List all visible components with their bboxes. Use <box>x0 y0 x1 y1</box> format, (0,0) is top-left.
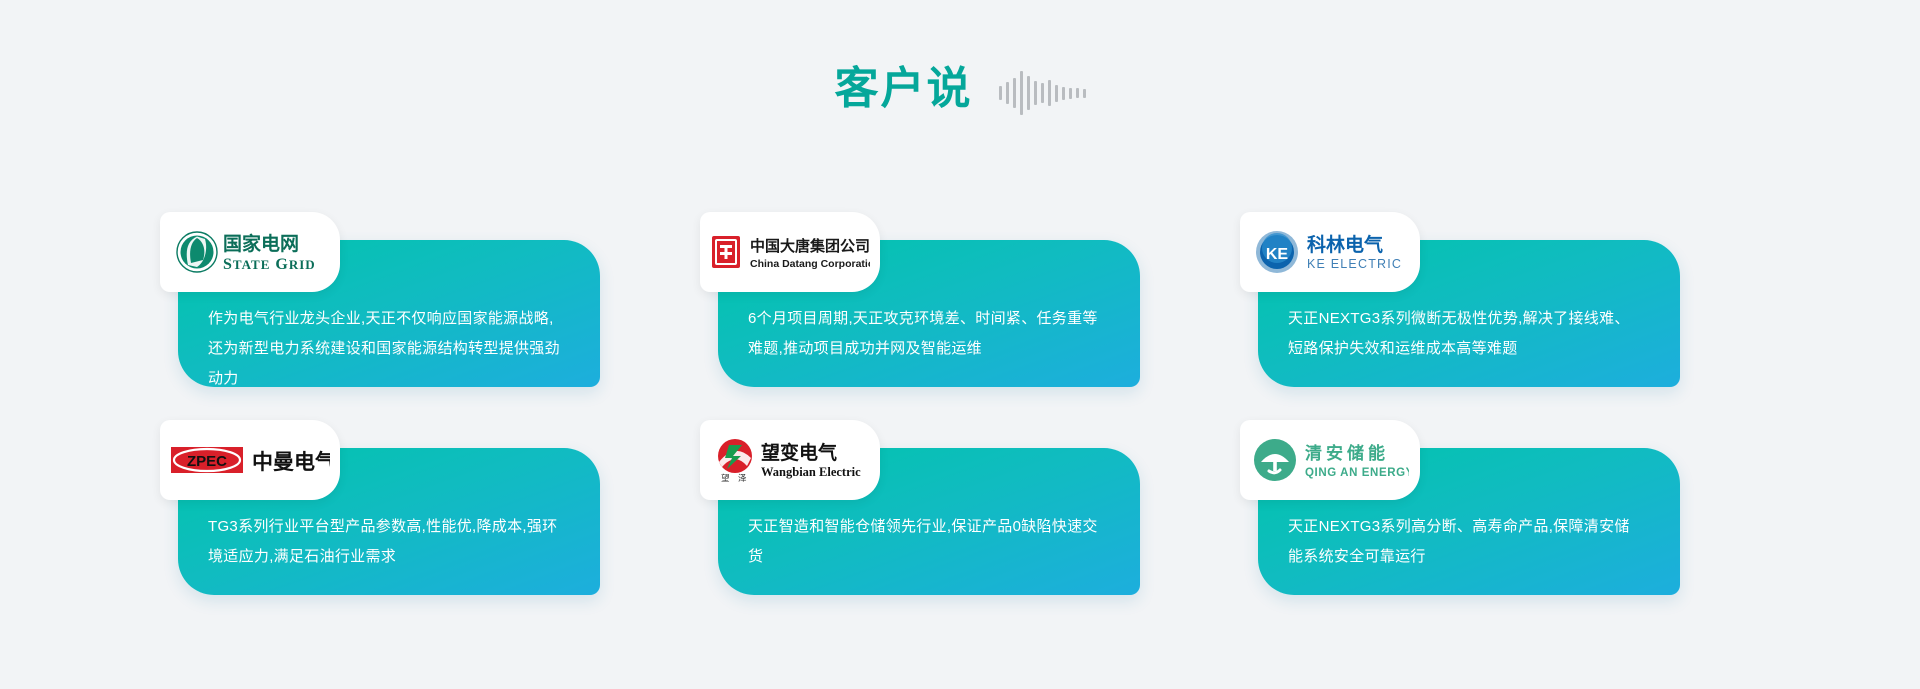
page-title: 客户说 <box>835 67 973 111</box>
svg-text:STATE GRID: STATE GRID <box>223 256 316 273</box>
svg-text:China Datang Corporation: China Datang Corporation <box>750 258 870 270</box>
company-logo-badge: 中国大唐集团公司 China Datang Corporation <box>700 212 880 292</box>
svg-text:科林电气: 科林电气 <box>1307 233 1383 256</box>
waveform-bar <box>1076 88 1079 98</box>
audio-waveform-icon <box>999 70 1086 116</box>
testimonial-card[interactable]: ZPEC 中曼电气 TG3系列行业平台型产品参数高,性能优,降成本,强环境适应力… <box>160 420 600 595</box>
company-logo-badge: KE 科林电气 KE ELECTRIC <box>1240 212 1420 292</box>
testimonial-card[interactable]: 国家电网 STATE GRID 作为电气行业龙头企业,天正不仅响应国家能源战略,… <box>160 212 600 387</box>
svg-text:QING AN ENERGY: QING AN ENERGY <box>1305 467 1409 479</box>
waveform-bar <box>1069 88 1072 99</box>
waveform-bar <box>1041 83 1044 103</box>
waveform-bar <box>1013 78 1016 108</box>
testimonial-grid: 国家电网 STATE GRID 作为电气行业龙头企业,天正不仅响应国家能源战略,… <box>160 212 1760 595</box>
state-grid-logo: 国家电网 STATE GRID <box>175 229 325 275</box>
waveform-bar <box>1083 89 1086 98</box>
testimonial-quote: 作为电气行业龙头企业,天正不仅响应国家能源战略,还为新型电力系统建设和国家能源结… <box>208 304 564 394</box>
company-logo-badge: 国家电网 STATE GRID <box>160 212 340 292</box>
testimonial-quote: TG3系列行业平台型产品参数高,性能优,降成本,强环境适应力,满足石油行业需求 <box>208 512 564 572</box>
ke-electric-logo: KE 科林电气 KE ELECTRIC <box>1253 229 1408 275</box>
waveform-bar <box>1034 81 1037 105</box>
testimonial-card[interactable]: 中国大唐集团公司 China Datang Corporation 6个月项目周… <box>700 212 1140 387</box>
section-heading: 客户说 <box>0 62 1920 116</box>
testimonial-quote: 6个月项目周期,天正攻克环境差、时间紧、任务重等难题,推动项目成功并网及智能运维 <box>748 304 1104 364</box>
svg-text:清安储能: 清安储能 <box>1305 443 1389 463</box>
waveform-bar <box>1048 80 1051 106</box>
testimonial-card[interactable]: 望 泽 望变电气 Wangbian Electric 天正智造和智能仓储领先行业… <box>700 420 1140 595</box>
zpec-zhongman-logo: ZPEC 中曼电气 <box>170 442 330 478</box>
waveform-bar <box>1006 82 1009 104</box>
svg-text:KE ELECTRIC: KE ELECTRIC <box>1307 257 1402 271</box>
waveform-bar <box>1062 87 1065 100</box>
company-logo-badge: 清安储能 QING AN ENERGY <box>1240 420 1420 500</box>
testimonial-card[interactable]: 清安储能 QING AN ENERGY 天正NEXTG3系列高分断、高寿命产品,… <box>1240 420 1680 595</box>
svg-text:中曼电气: 中曼电气 <box>252 450 330 474</box>
svg-text:ZPEC: ZPEC <box>187 453 227 470</box>
svg-text:中国大唐集团公司: 中国大唐集团公司 <box>750 237 870 255</box>
waveform-bar <box>1020 71 1023 115</box>
testimonial-quote: 天正NEXTG3系列高分断、高寿命产品,保障清安储能系统安全可靠运行 <box>1288 512 1644 572</box>
testimonial-quote: 天正NEXTG3系列微断无极性优势,解决了接线难、短路保护失效和运维成本高等难题 <box>1288 304 1644 364</box>
svg-text:Wangbian Electric: Wangbian Electric <box>761 465 861 479</box>
waveform-bar <box>999 86 1002 100</box>
waveform-bar <box>1055 85 1058 102</box>
company-logo-badge: 望 泽 望变电气 Wangbian Electric <box>700 420 880 500</box>
svg-text:望变电气: 望变电气 <box>761 441 837 464</box>
qingan-energy-logo: 清安储能 QING AN ENERGY <box>1251 436 1409 484</box>
svg-text:国家电网: 国家电网 <box>223 232 299 255</box>
testimonial-quote: 天正智造和智能仓储领先行业,保证产品0缺陷快速交货 <box>748 512 1104 572</box>
svg-text:KE: KE <box>1265 246 1288 263</box>
svg-text:望 泽: 望 泽 <box>721 473 747 483</box>
testimonial-card[interactable]: KE 科林电气 KE ELECTRIC 天正NEXTG3系列微断无极性优势,解决… <box>1240 212 1680 387</box>
waveform-bar <box>1027 76 1030 110</box>
company-logo-badge: ZPEC 中曼电气 <box>160 420 340 500</box>
china-datang-logo: 中国大唐集团公司 China Datang Corporation <box>710 230 870 274</box>
customer-testimonials-section: 客户说 国家电网 STATE GRID 作为电气行业龙头企业,天正不仅响应国家能… <box>0 0 1920 689</box>
wangbian-electric-logo: 望 泽 望变电气 Wangbian Electric <box>709 436 871 484</box>
